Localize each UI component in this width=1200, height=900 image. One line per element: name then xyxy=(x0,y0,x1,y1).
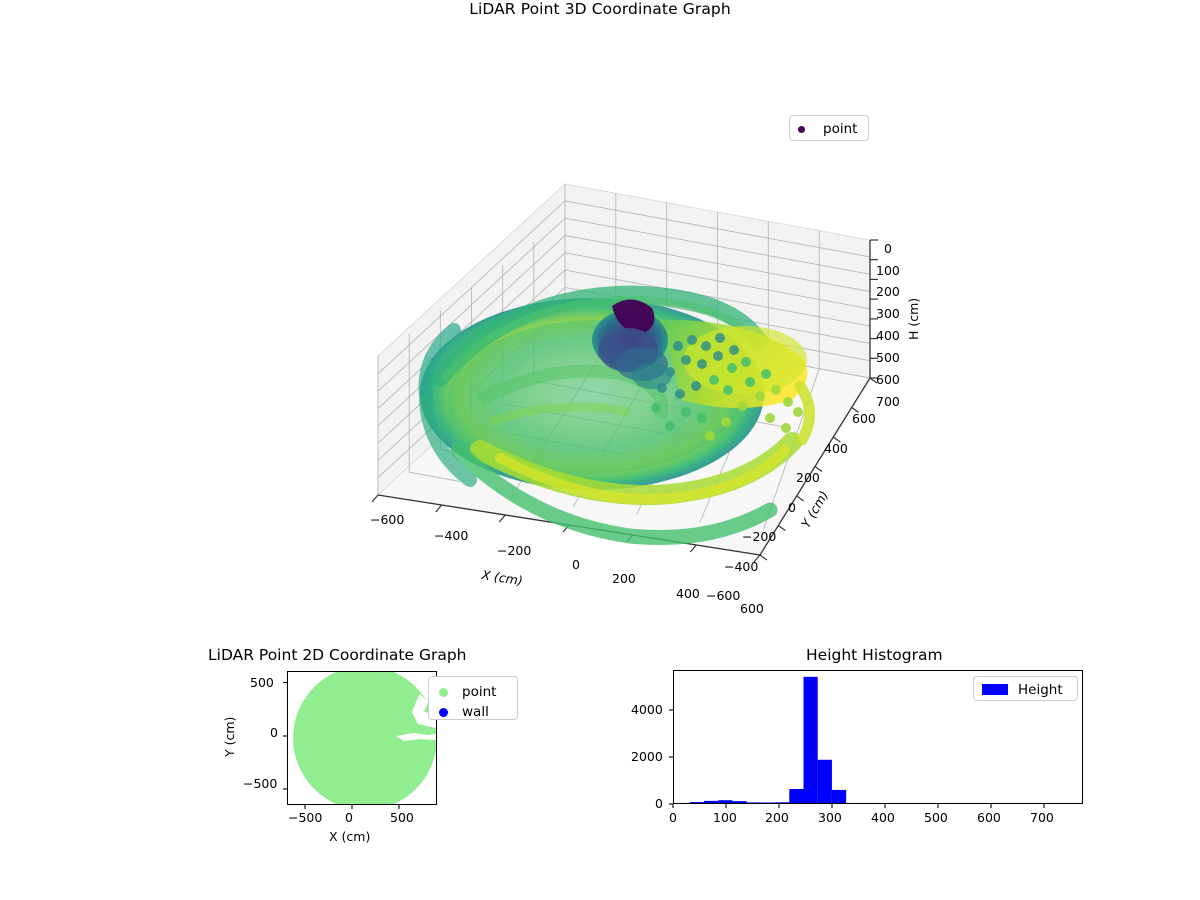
tick-y2d-0: 500 xyxy=(250,675,274,690)
tick-h3d-3: 300 xyxy=(876,306,900,321)
legend-wall-marker-icon xyxy=(439,708,448,717)
tick-y3d-5: 400 xyxy=(824,441,848,456)
legend-hist-label: Height xyxy=(1018,682,1063,698)
tick-h3d-2: 200 xyxy=(876,284,900,299)
tick-x3d-6: 600 xyxy=(740,601,764,616)
tick-y3d-1: −400 xyxy=(724,559,758,574)
legend-point-marker-icon xyxy=(798,126,805,133)
legend-2d-label-wall: wall xyxy=(462,704,489,720)
tick-x3d-2: −200 xyxy=(497,543,531,558)
tick-h3d-5: 500 xyxy=(876,350,900,365)
tick-h3d-7: 700 xyxy=(876,394,900,409)
tick-y2d-2: −500 xyxy=(243,776,277,791)
legend-height-swatch-icon xyxy=(982,684,1008,695)
tick-y3d-2: −200 xyxy=(742,529,776,544)
tick-y3d-4: 200 xyxy=(796,470,820,485)
legend-3d[interactable]: point xyxy=(789,115,869,141)
legend-3d-entry-point: point xyxy=(790,116,868,142)
tick-x3d-5: 400 xyxy=(676,586,700,601)
tick-h3d-6: 600 xyxy=(876,372,900,387)
axis-label-y-2d: Y (cm) xyxy=(222,717,237,757)
tick-yhist-2: 4000 xyxy=(631,702,663,717)
tick-y3d-0: −600 xyxy=(706,588,740,603)
tick-yhist-1: 2000 xyxy=(631,749,663,764)
panel-3d-title: LiDAR Point 3D Coordinate Graph xyxy=(0,0,1200,18)
legend-2d-entry-point: point xyxy=(439,682,517,702)
panel-2d-title: LiDAR Point 2D Coordinate Graph xyxy=(208,646,466,664)
panel-hist-title: Height Histogram xyxy=(806,646,943,664)
legend-2d-entry-wall: wall xyxy=(439,702,517,722)
axis-label-x-2d: X (cm) xyxy=(329,829,370,844)
tick-h3d-0: 0 xyxy=(884,241,892,256)
legend-2d[interactable]: point wall xyxy=(428,676,518,720)
figure-canvas: LiDAR Point 3D Coordinate Graph point xyxy=(0,0,1200,900)
legend-2d-label-point: point xyxy=(462,684,496,700)
tick-x3d-0: −600 xyxy=(370,512,404,527)
plot-3d-axes xyxy=(330,150,950,620)
legend-point-marker-icon-2d xyxy=(439,688,448,697)
axis-label-h-3d: H (cm) xyxy=(906,298,921,340)
tick-x3d-1: −400 xyxy=(434,528,468,543)
legend-hist[interactable]: Height xyxy=(973,676,1078,701)
tick-y3d-3: 0 xyxy=(788,500,796,515)
legend-hist-entry: Height xyxy=(974,677,1077,702)
tick-x3d-4: 200 xyxy=(612,571,636,586)
tick-h3d-1: 100 xyxy=(876,263,900,278)
tick-y3d-6: 600 xyxy=(852,411,876,426)
tick-h3d-4: 400 xyxy=(876,328,900,343)
tick-x3d-3: 0 xyxy=(572,557,580,572)
legend-3d-label: point xyxy=(823,121,857,137)
